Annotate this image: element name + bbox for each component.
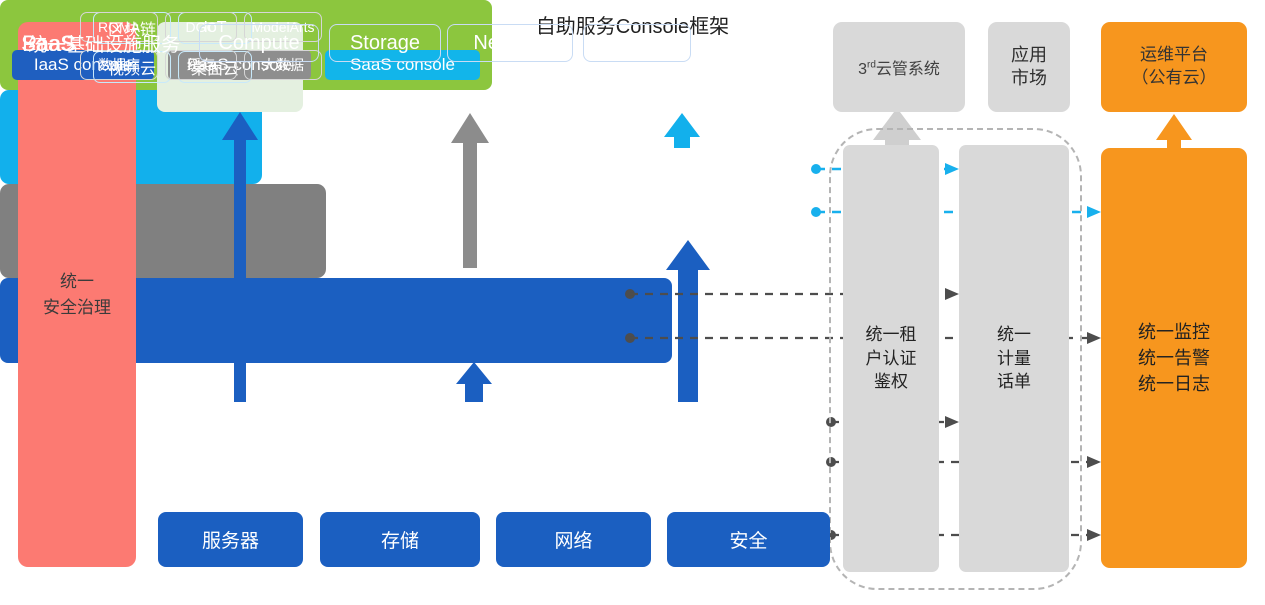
- hardware-box-network-label: 网络: [554, 526, 592, 553]
- hardware-box-storage[interactable]: 存储: [320, 512, 480, 567]
- hardware-box-storage-label: 存储: [381, 526, 419, 553]
- third-party-suffix: 云管系统: [876, 61, 940, 78]
- infra-chip-cce-label: CCE: [616, 32, 658, 55]
- infra-chip-network-label: Network: [473, 32, 546, 55]
- infra-chip-storage[interactable]: Storage: [329, 24, 441, 62]
- unified-tenant-auth-label: 统一租 户认证 鉴权: [866, 323, 917, 394]
- infra-chip-cce[interactable]: CCE: [583, 24, 691, 62]
- infra-chip-network[interactable]: Network: [447, 24, 573, 62]
- third-party-cloud-management-box[interactable]: 3rd云管系统: [833, 22, 965, 112]
- arrow-infra-to-saas: [666, 240, 710, 402]
- hardware-box-security-label: 安全: [729, 526, 767, 553]
- unified-security-governance-panel[interactable]: 统一 安全治理: [18, 22, 136, 567]
- app-market-label: 应用 市场: [1011, 44, 1047, 91]
- security-panel-label: 统一 安全治理: [43, 269, 111, 320]
- paas-chip-database-label: 数据库: [98, 55, 140, 75]
- arrow-ops-column-to-ops-platform: [1156, 114, 1192, 150]
- arrow-infra-to-paas: [456, 362, 492, 402]
- ops-platform-box[interactable]: 运维平台 （公有云）: [1101, 22, 1247, 112]
- unified-monitoring-column[interactable]: 统一监控 统一告警 统一日志: [1101, 148, 1247, 568]
- hardware-box-security[interactable]: 安全: [667, 512, 830, 567]
- infra-chip-compute[interactable]: Compute: [199, 24, 319, 62]
- infra-layer-label: 统一基础设施服务: [14, 30, 194, 57]
- hardware-box-server-label: 服务器: [202, 526, 259, 553]
- hardware-box-network[interactable]: 网络: [496, 512, 651, 567]
- unified-tenant-auth-column[interactable]: 统一租 户认证 鉴权: [843, 145, 939, 572]
- unified-metering-billing-column[interactable]: 统一 计量 话单: [959, 145, 1069, 572]
- third-party-prefix: 3: [858, 61, 867, 78]
- infra-chip-storage-label: Storage: [350, 32, 420, 55]
- hardware-box-server[interactable]: 服务器: [158, 512, 303, 567]
- arrow-saas-to-console: [664, 113, 700, 148]
- third-party-label: 3rd云管系统: [858, 55, 940, 79]
- infra-chip-compute-label: Compute: [218, 32, 299, 55]
- third-party-superscript: rd: [867, 60, 876, 71]
- unified-monitoring-label: 统一监控 统一告警 统一日志: [1138, 319, 1210, 397]
- ops-platform-label: 运维平台 （公有云）: [1132, 44, 1217, 90]
- unified-metering-billing-label: 统一 计量 话单: [997, 323, 1031, 394]
- app-market-box[interactable]: 应用 市场: [988, 22, 1070, 112]
- architecture-diagram: 统一 安全治理 API网关 自助服务Console框架 IaaS console…: [0, 0, 1265, 605]
- arrow-paas-to-console: [451, 113, 489, 268]
